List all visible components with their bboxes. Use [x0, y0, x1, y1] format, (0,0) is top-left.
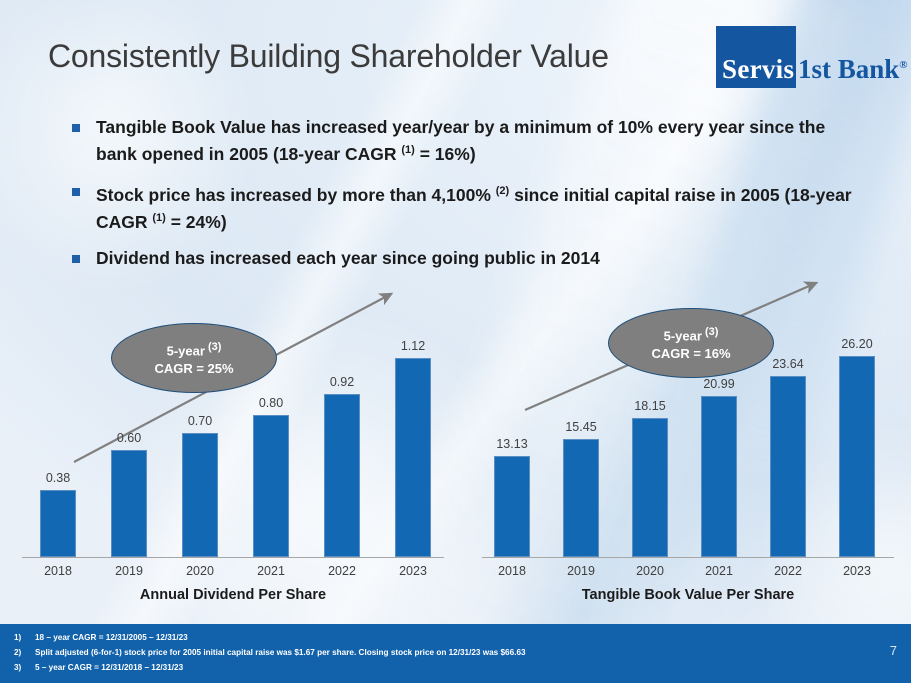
cagr-callout-period: 5-year	[167, 343, 205, 358]
page-number: 7	[890, 643, 897, 658]
bullet-text: Tangible Book Value has increased year/y…	[96, 116, 860, 166]
bar-value-label: 13.13	[478, 437, 546, 451]
x-axis-tick-label: 2022	[754, 564, 822, 578]
x-axis-tick-label: 2021	[237, 564, 305, 578]
x-axis-tick-label: 2018	[478, 564, 546, 578]
bar	[494, 456, 530, 557]
cagr-callout-value: CAGR = 25%	[154, 360, 233, 378]
bullet-text-run: = 24%)	[166, 211, 227, 231]
x-axis-tick-label: 2022	[308, 564, 376, 578]
bar-value-label: 0.38	[24, 471, 92, 485]
bullet-item: Stock price has increased by more than 4…	[70, 180, 860, 234]
cagr-callout-period: 5-year	[664, 328, 702, 343]
logo-wordmark: 1st Bank®	[798, 54, 908, 85]
x-axis-tick-label: 2018	[24, 564, 92, 578]
bar	[111, 450, 147, 557]
bar-value-label: 1.12	[379, 339, 447, 353]
bar-value-label: 0.92	[308, 375, 376, 389]
bar-value-label: 0.80	[237, 396, 305, 410]
footnote-number: 2)	[14, 648, 21, 657]
x-axis-tick-label: 2023	[379, 564, 447, 578]
bullet-text: Stock price has increased by more than 4…	[96, 180, 860, 234]
footnote-reference: (3)	[702, 326, 719, 338]
bar	[632, 418, 668, 557]
x-axis-tick-label: 2020	[616, 564, 684, 578]
cagr-callout-value: CAGR = 16%	[651, 345, 730, 363]
x-axis-line	[22, 557, 444, 558]
bullet-text-run: = 16%)	[415, 144, 476, 164]
bar-value-label: 26.20	[823, 337, 891, 351]
footnote-reference: (1)	[401, 144, 414, 156]
registered-mark: ®	[899, 59, 907, 71]
bar	[253, 415, 289, 557]
chart-annual-dividend-per-share: 0.3820180.6020190.7020200.8020210.922022…	[18, 280, 458, 610]
bullet-square-icon	[72, 124, 80, 132]
bar	[182, 433, 218, 557]
cagr-callout: 5-year (3)CAGR = 16%	[608, 308, 774, 378]
x-axis-tick-label: 2023	[823, 564, 891, 578]
bullet-text-run: Stock price has increased by more than 4…	[96, 185, 496, 205]
logo-wordmark-text: 1st Bank	[798, 54, 899, 84]
bar-value-label: 0.60	[95, 431, 163, 445]
footnote-number: 3)	[14, 663, 21, 672]
bar	[40, 490, 76, 557]
servisfirst-bank-logo: Servis 1st Bank®	[716, 26, 892, 88]
logo-mark-text: Servis	[722, 54, 794, 85]
footnote-reference: (1)	[152, 212, 165, 224]
bar-value-label: 20.99	[685, 377, 753, 391]
bar	[563, 439, 599, 557]
bullet-list: Tangible Book Value has increased year/y…	[70, 116, 860, 284]
footnote-number: 1)	[14, 633, 21, 642]
footnotes-bar: 1)18 – year CAGR = 12/31/2005 – 12/31/23…	[0, 624, 911, 683]
bullet-item: Tangible Book Value has increased year/y…	[70, 116, 860, 166]
x-axis-tick-label: 2019	[95, 564, 163, 578]
x-axis-tick-label: 2021	[685, 564, 753, 578]
bar	[701, 396, 737, 557]
bar	[839, 356, 875, 557]
bullet-square-icon	[72, 188, 80, 196]
footnote-reference: (2)	[496, 185, 509, 197]
chart-title: Annual Dividend Per Share	[18, 587, 448, 603]
cagr-callout: 5-year (3)CAGR = 25%	[111, 323, 277, 393]
bullet-text: Dividend has increased each year since g…	[96, 247, 860, 270]
x-axis-line	[482, 557, 894, 558]
chart-title: Tangible Book Value Per Share	[478, 587, 898, 603]
bullet-text-run: Dividend has increased each year since g…	[96, 248, 600, 268]
bar-value-label: 18.15	[616, 399, 684, 413]
footnote-text: 18 – year CAGR = 12/31/2005 – 12/31/23	[35, 633, 188, 642]
bullet-item: Dividend has increased each year since g…	[70, 247, 860, 270]
bar	[395, 358, 431, 557]
bar	[324, 394, 360, 557]
footnote-text: 5 – year CAGR = 12/31/2018 – 12/31/23	[35, 663, 183, 672]
bullet-square-icon	[72, 255, 80, 263]
cagr-callout-line1: 5-year (3)	[167, 338, 222, 360]
bar-value-label: 15.45	[547, 420, 615, 434]
cagr-callout-line1: 5-year (3)	[664, 323, 719, 345]
x-axis-tick-label: 2020	[166, 564, 234, 578]
bar-value-label: 0.70	[166, 414, 234, 428]
bar	[770, 376, 806, 557]
slide-canvas: Consistently Building Shareholder Value …	[0, 0, 911, 683]
footnote-reference: (3)	[205, 341, 222, 353]
footnote-text: Split adjusted (6-for-1) stock price for…	[35, 648, 526, 657]
chart-tangible-book-value-per-share: 13.13201815.45201918.15202020.99202123.6…	[478, 280, 908, 610]
page-title: Consistently Building Shareholder Value	[48, 38, 718, 75]
x-axis-tick-label: 2019	[547, 564, 615, 578]
